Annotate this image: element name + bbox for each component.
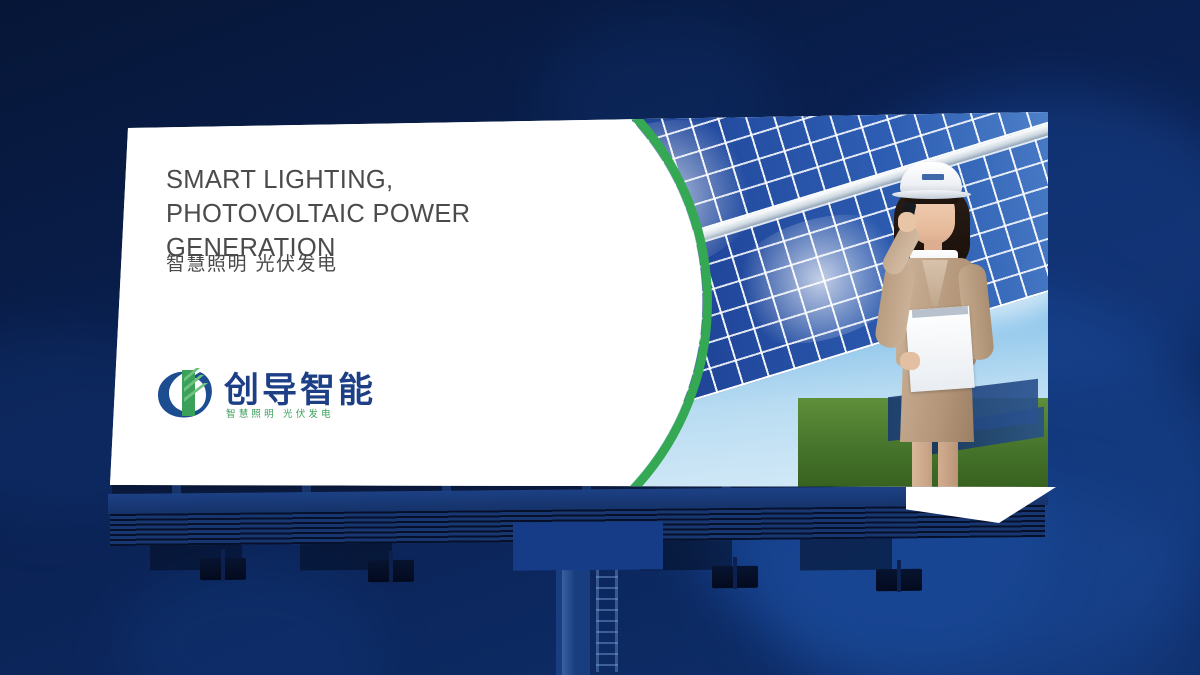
- company-tagline: 智慧照明 光伏发电: [226, 406, 334, 420]
- green-arc-divider: [388, 112, 712, 490]
- billboard-face: SMART LIGHTING, PHOTOVOLTAIC POWER GENER…: [108, 112, 1048, 490]
- leg: [912, 438, 932, 490]
- hand: [898, 212, 916, 232]
- flood-light: [368, 560, 414, 582]
- flood-light: [712, 566, 758, 588]
- leg: [938, 438, 958, 490]
- hand: [900, 352, 920, 370]
- flood-light: [876, 569, 922, 591]
- clipboard: [905, 306, 975, 392]
- billboard-mockup-scene: SMART LIGHTING, PHOTOVOLTAIC POWER GENER…: [0, 0, 1200, 675]
- chuangdao-logo-mark-icon: [156, 364, 218, 422]
- hard-hat-brim: [892, 190, 971, 199]
- solar-farm-photo: [388, 112, 1048, 490]
- subtitle: 智慧照明 光伏发电: [166, 249, 338, 276]
- female-engineer: [862, 162, 1012, 490]
- flood-light: [200, 558, 246, 580]
- hard-hat-logo: [922, 174, 944, 180]
- secondary-sign-panel: [513, 521, 663, 570]
